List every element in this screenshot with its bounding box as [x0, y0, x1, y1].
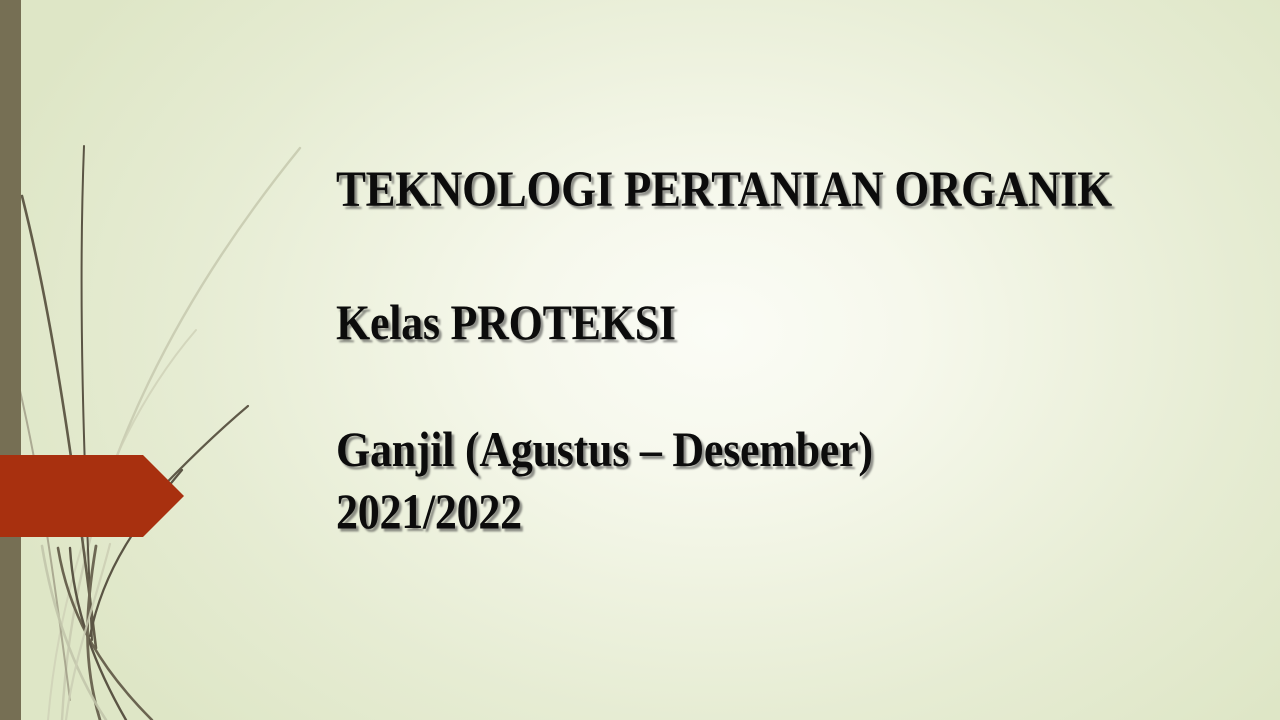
- term-label-line-2: 2021/2022: [336, 480, 1128, 542]
- title-slide: TEKNOLOGI PERTANIAN ORGANIK Kelas PROTEK…: [0, 0, 1280, 720]
- title-text-block: TEKNOLOGI PERTANIAN ORGANIK Kelas PROTEK…: [336, 160, 1236, 542]
- red-arrow-banner: [0, 455, 184, 537]
- grass-stroke-pale-right: [62, 148, 300, 720]
- left-olive-band: [0, 0, 21, 720]
- page-title: TEKNOLOGI PERTANIAN ORGANIK: [336, 160, 1128, 220]
- arrow-shape: [0, 455, 184, 537]
- class-spacer: [336, 352, 1236, 418]
- term-label-line-1: Ganjil (Agustus – Desember): [336, 418, 1128, 480]
- grass-stroke-lower-b: [70, 548, 126, 720]
- grass-stroke-dark-lean: [22, 196, 96, 648]
- class-label: Kelas PROTEKSI: [336, 292, 1128, 352]
- title-spacer: [336, 220, 1236, 292]
